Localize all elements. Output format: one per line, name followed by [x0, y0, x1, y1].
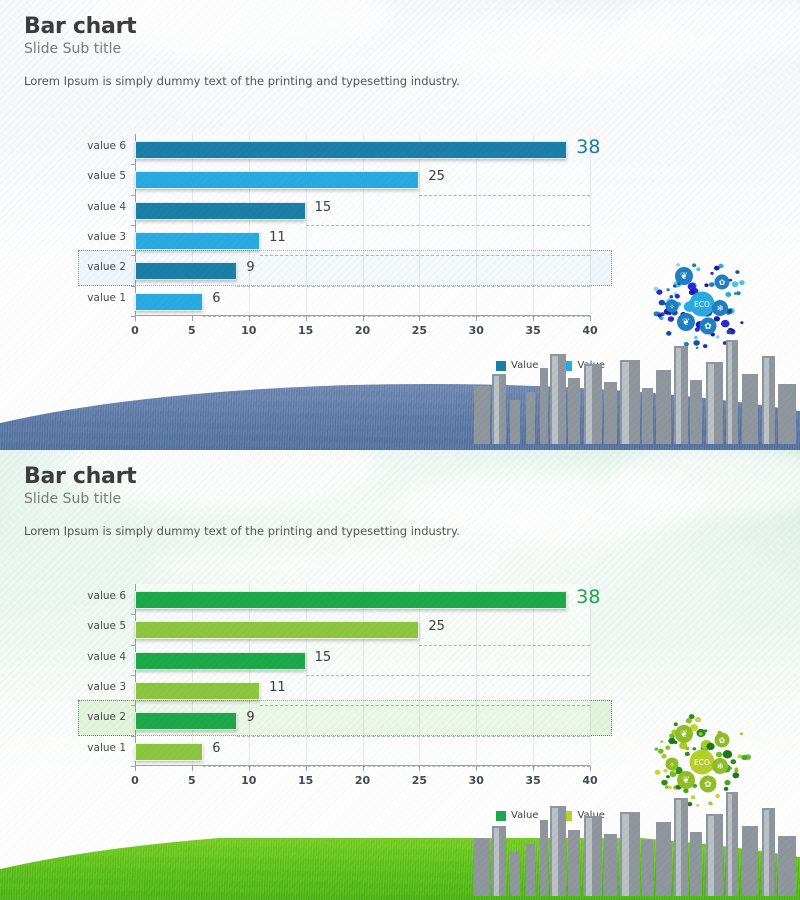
bar[interactable]: [135, 591, 567, 609]
chart-row[interactable]: value 638: [135, 584, 590, 614]
page-subtitle: Slide Sub title: [24, 492, 136, 506]
chart-row[interactable]: value 16: [135, 736, 590, 766]
chart-row[interactable]: value 638: [135, 134, 590, 164]
x-tick-label: 20: [355, 774, 370, 787]
chart-row[interactable]: value 415: [135, 645, 590, 675]
slide-bar-chart-blue: Bar chart Slide Sub title Lorem Ipsum is…: [0, 0, 800, 450]
category-label: value 5: [87, 170, 126, 182]
bar[interactable]: [135, 712, 237, 730]
x-tick: [590, 316, 591, 321]
x-tick-label: 25: [412, 774, 427, 787]
page-title: Bar chart: [24, 16, 136, 38]
bar[interactable]: [135, 652, 306, 670]
bar[interactable]: [135, 262, 237, 280]
value-label: 9: [246, 260, 254, 275]
category-label: value 6: [87, 140, 126, 152]
value-label: 25: [428, 169, 445, 184]
svg-text:❄: ❄: [716, 303, 723, 313]
chart-row[interactable]: value 415: [135, 195, 590, 225]
chart-row[interactable]: value 525: [135, 614, 590, 644]
bar[interactable]: [135, 743, 203, 761]
bar[interactable]: [135, 202, 306, 220]
x-tick: [135, 766, 136, 771]
plot-area: 0510152025303540value 638value 525value …: [135, 134, 590, 316]
bar[interactable]: [135, 293, 203, 311]
value-label: 11: [269, 680, 286, 695]
svg-text:❦: ❦: [682, 775, 690, 786]
slide-deck: Bar chart Slide Sub title Lorem Ipsum is…: [0, 0, 800, 900]
bar[interactable]: [135, 141, 567, 159]
svg-text:ECO: ECO: [694, 758, 710, 767]
city-skyline: [470, 786, 800, 896]
slide-description: Lorem Ipsum is simply dummy text of the …: [24, 74, 460, 88]
x-tick-label: 0: [131, 324, 139, 337]
page-subtitle: Slide Sub title: [24, 42, 136, 56]
x-tick-label: 10: [241, 774, 256, 787]
svg-text:✧: ✧: [669, 761, 675, 769]
value-label: 15: [315, 200, 332, 215]
selected-value-label: 38: [576, 586, 600, 608]
slide-header: Bar chart Slide Sub title: [24, 16, 136, 56]
svg-text:✿: ✿: [719, 736, 726, 745]
chart-row[interactable]: value 16: [135, 286, 590, 316]
grid-line: [590, 584, 591, 766]
x-tick: [192, 316, 193, 321]
city-skyline: [470, 334, 800, 444]
x-tick-label: 0: [131, 774, 139, 787]
value-guide-line: [203, 316, 590, 317]
category-label: value 6: [87, 590, 126, 602]
value-label: 9: [246, 710, 254, 725]
category-label: value 3: [87, 681, 126, 693]
value-label: 15: [315, 650, 332, 665]
value-label: 6: [212, 741, 220, 756]
svg-text:❦: ❦: [682, 317, 690, 328]
category-label: value 4: [87, 201, 126, 213]
x-tick-label: 15: [298, 774, 313, 787]
x-tick: [135, 316, 136, 321]
svg-text:ECO: ECO: [694, 300, 710, 309]
svg-text:❄: ❄: [716, 761, 723, 771]
x-tick-label: 25: [412, 324, 427, 337]
x-tick: [192, 766, 193, 771]
category-label: value 1: [87, 742, 126, 754]
bar[interactable]: [135, 682, 260, 700]
y-tick: [131, 766, 135, 767]
plot-area: 0510152025303540value 638value 525value …: [135, 584, 590, 766]
value-label: 6: [212, 291, 220, 306]
x-tick: [590, 766, 591, 771]
selected-value-label: 38: [576, 136, 600, 158]
category-label: value 3: [87, 231, 126, 243]
svg-text:❦: ❦: [680, 271, 688, 282]
svg-text:✿: ✿: [719, 278, 726, 287]
chart-row[interactable]: value 311: [135, 675, 590, 705]
value-guide-line: [203, 766, 590, 767]
x-tick-label: 5: [188, 324, 196, 337]
chart-row[interactable]: value 29: [135, 705, 590, 735]
slide-bar-chart-green: Bar chart Slide Sub title Lorem Ipsum is…: [0, 450, 800, 900]
bar-chart[interactable]: 0510152025303540value 638value 525value …: [78, 128, 612, 340]
page-title: Bar chart: [24, 466, 136, 488]
slide-description: Lorem Ipsum is simply dummy text of the …: [24, 524, 460, 538]
category-label: value 1: [87, 292, 126, 304]
grid-line: [590, 134, 591, 316]
bar[interactable]: [135, 232, 260, 250]
category-label: value 5: [87, 620, 126, 632]
slide-header: Bar chart Slide Sub title: [24, 466, 136, 506]
svg-text:✧: ✧: [669, 303, 675, 311]
chart-row[interactable]: value 525: [135, 164, 590, 194]
chart-row[interactable]: value 29: [135, 255, 590, 285]
x-tick-label: 5: [188, 774, 196, 787]
category-label: value 2: [87, 711, 126, 723]
value-label: 25: [428, 619, 445, 634]
category-label: value 4: [87, 651, 126, 663]
category-label: value 2: [87, 261, 126, 273]
svg-text:✿: ✿: [704, 322, 711, 332]
bar-chart[interactable]: 0510152025303540value 638value 525value …: [78, 578, 612, 790]
y-tick: [131, 316, 135, 317]
bar[interactable]: [135, 171, 419, 189]
x-tick-label: 10: [241, 324, 256, 337]
x-tick-label: 20: [355, 324, 370, 337]
chart-row[interactable]: value 311: [135, 225, 590, 255]
value-label: 11: [269, 230, 286, 245]
x-tick-label: 15: [298, 324, 313, 337]
svg-text:❦: ❦: [680, 729, 688, 740]
bar[interactable]: [135, 621, 419, 639]
